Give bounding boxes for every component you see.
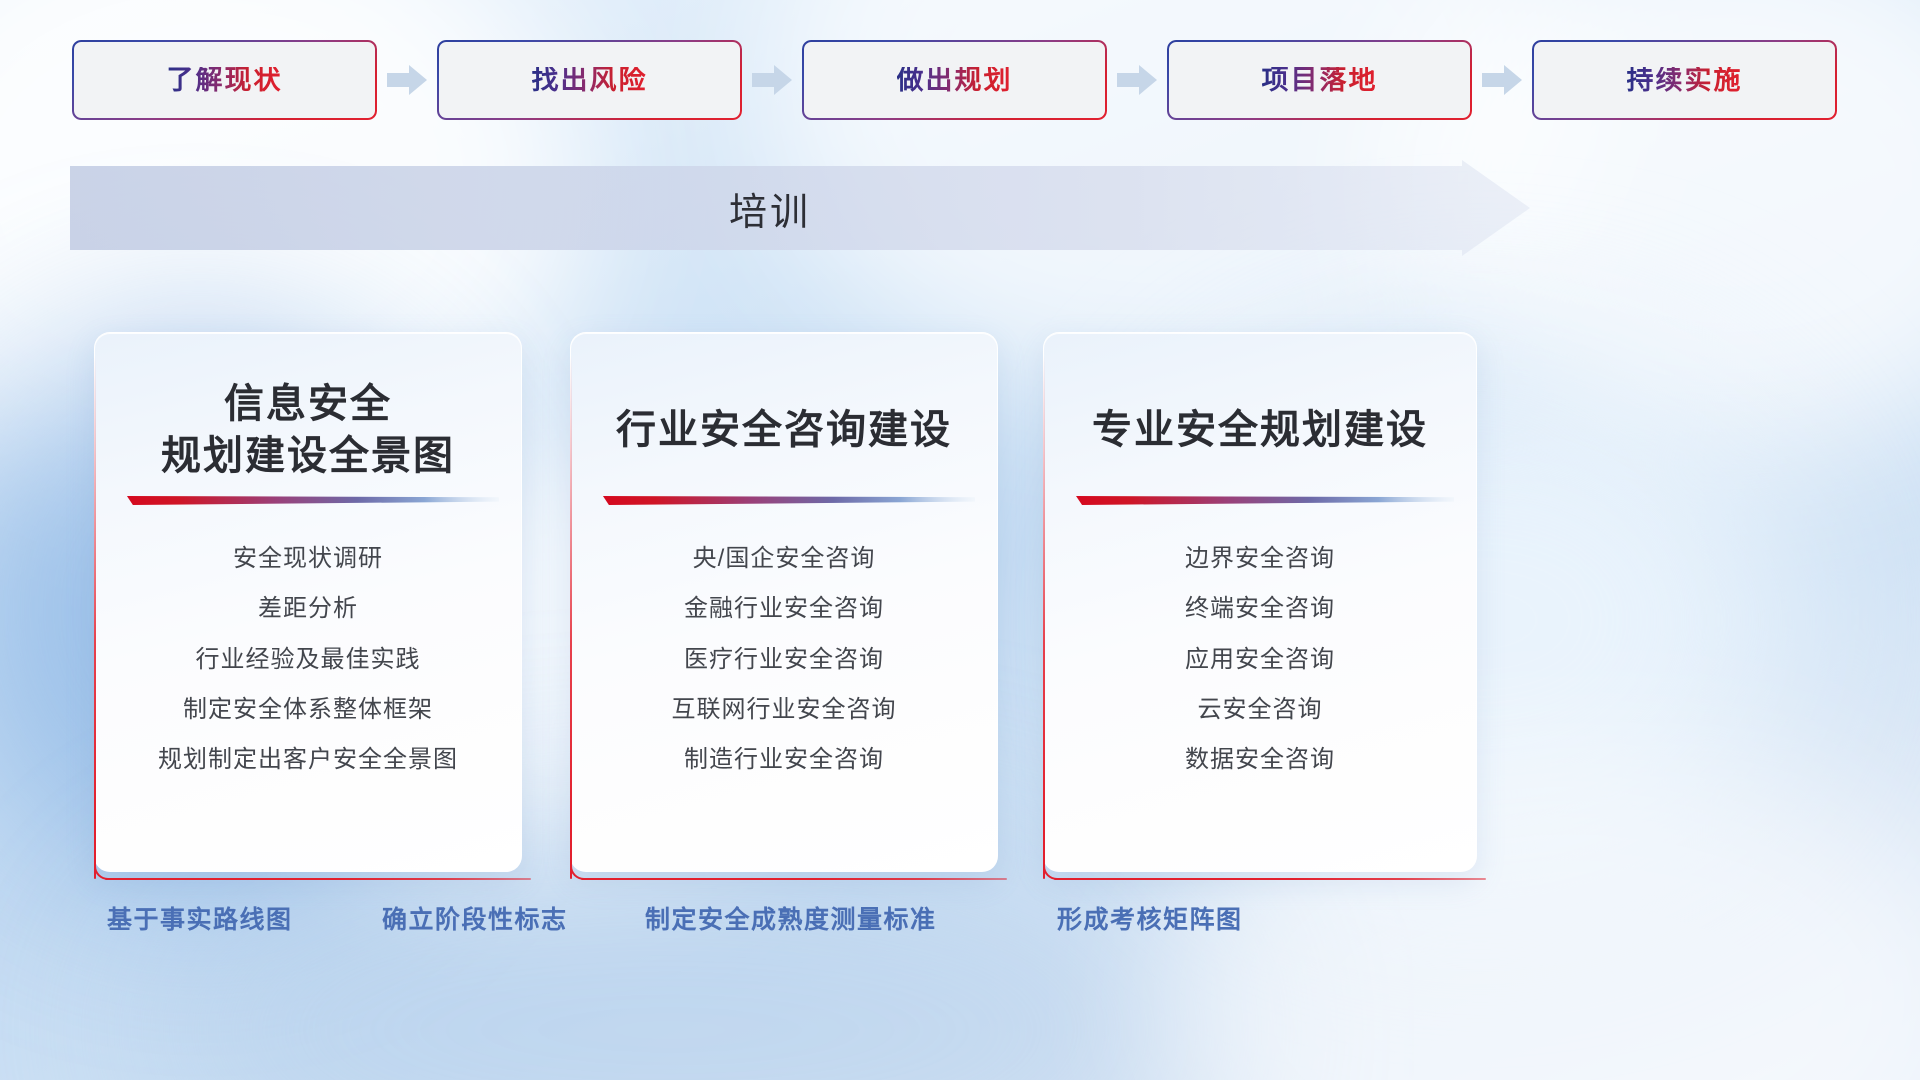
- card-2-red-accent-bottom: [581, 878, 1007, 880]
- card-3-title-line-1: 专业安全规划建设: [1092, 404, 1428, 456]
- list-item: 云安全咨询: [1198, 689, 1323, 730]
- banner-title: 培训: [70, 160, 1470, 256]
- step-box-3[interactable]: 做出规划: [802, 40, 1107, 120]
- caption-3: 制定安全成熟度测量标准: [645, 900, 937, 936]
- list-item: 央/国企安全咨询: [693, 538, 876, 579]
- step-arrow-icon-3: [1117, 63, 1157, 97]
- card-1-list: 安全现状调研 差距分析 行业经验及最佳实践 制定安全体系整体框架 规划制定出客户…: [95, 538, 521, 780]
- list-item: 金融行业安全咨询: [684, 588, 884, 629]
- card-3-title: 专业安全规划建设: [1044, 375, 1476, 485]
- card-2-red-accent-corner: [570, 856, 594, 880]
- card-1-title-line-2: 规划建设全景图: [161, 430, 455, 482]
- card-1-divider: [123, 493, 499, 509]
- step-label-4: 项目落地: [1262, 67, 1378, 94]
- list-item: 医疗行业安全咨询: [684, 639, 884, 680]
- card-2-list: 央/国企安全咨询 金融行业安全咨询 医疗行业安全咨询 互联网行业安全咨询 制造行…: [571, 538, 997, 780]
- card-group: 信息安全 规划建设全景图 安全现状调研: [0, 332, 1920, 892]
- card-1-title: 信息安全 规划建设全景图: [95, 375, 521, 485]
- list-item: 应用安全咨询: [1185, 639, 1335, 680]
- list-item: 制造行业安全咨询: [684, 739, 884, 780]
- card-1-red-accent-corner: [94, 856, 118, 880]
- card-3-divider: [1072, 493, 1454, 509]
- card-2-title-line-1: 行业安全咨询建设: [616, 404, 952, 456]
- card-3-list: 边界安全咨询 终端安全咨询 应用安全咨询 云安全咨询 数据安全咨询: [1044, 538, 1476, 780]
- card-1-title-line-1: 信息安全: [224, 378, 392, 430]
- list-item: 规划制定出客户安全全景图: [158, 739, 458, 780]
- card-1-red-accent-bottom: [105, 878, 531, 880]
- list-item: 互联网行业安全咨询: [672, 689, 897, 730]
- card-1[interactable]: 信息安全 规划建设全景图 安全现状调研: [94, 332, 522, 872]
- training-banner: 培训: [70, 160, 1530, 256]
- caption-4: 形成考核矩阵图: [1057, 900, 1243, 936]
- list-item: 安全现状调研: [233, 538, 383, 579]
- list-item: 边界安全咨询: [1185, 538, 1335, 579]
- list-item: 数据安全咨询: [1185, 739, 1335, 780]
- step-label-2: 找出风险: [532, 67, 648, 94]
- caption-1: 基于事实路线图: [107, 900, 293, 936]
- step-label-5: 持续实施: [1627, 67, 1743, 94]
- step-arrow-icon-1: [387, 63, 427, 97]
- step-box-2[interactable]: 找出风险: [437, 40, 742, 120]
- list-item: 终端安全咨询: [1185, 588, 1335, 629]
- step-box-4[interactable]: 项目落地: [1167, 40, 1472, 120]
- step-arrow-icon-4: [1482, 63, 1522, 97]
- card-3-red-accent-corner: [1043, 856, 1067, 880]
- step-box-5[interactable]: 持续实施: [1532, 40, 1837, 120]
- step-arrow-icon-2: [752, 63, 792, 97]
- caption-2: 确立阶段性标志: [382, 900, 568, 936]
- step-label-3: 做出规划: [897, 67, 1013, 94]
- list-item: 制定安全体系整体框架: [183, 689, 433, 730]
- caption-row: 基于事实路线图 确立阶段性标志 制定安全成熟度测量标准 形成考核矩阵图: [0, 900, 1920, 970]
- card-3[interactable]: 专业安全规划建设 边界安全咨询 终端安全咨询: [1043, 332, 1477, 872]
- card-2[interactable]: 行业安全咨询建设 央/国企安全咨询 金融行业安全咨: [570, 332, 998, 872]
- list-item: 差距分析: [258, 588, 358, 629]
- list-item: 行业经验及最佳实践: [196, 639, 421, 680]
- step-label-1: 了解现状: [167, 67, 283, 94]
- card-2-divider: [599, 493, 975, 509]
- process-step-flow: 了解现状 找出风险 做出规划 项目落地 持续实施: [0, 0, 1920, 160]
- card-2-title: 行业安全咨询建设: [571, 375, 997, 485]
- card-3-red-accent-bottom: [1054, 878, 1486, 880]
- step-box-1[interactable]: 了解现状: [72, 40, 377, 120]
